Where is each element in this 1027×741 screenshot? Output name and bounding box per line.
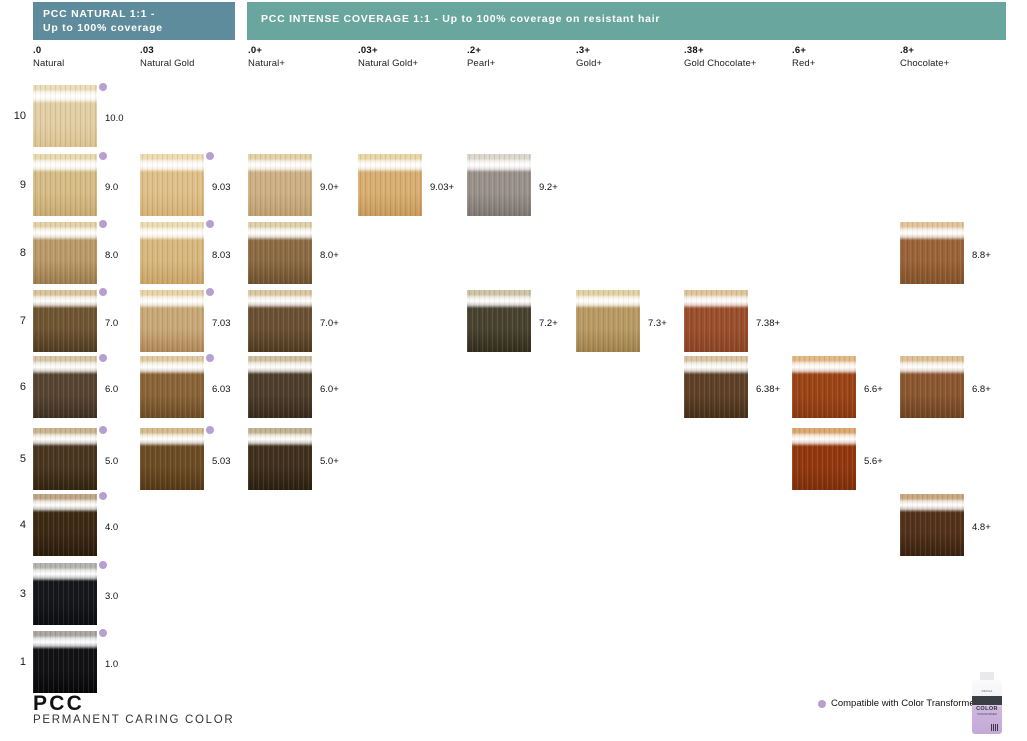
swatch-sheen [900,362,964,373]
bottle-body: INDOLA COLOR TRANSFORMER [972,680,1002,734]
column-name: Gold Chocolate+ [684,57,757,70]
swatch-sheen [33,296,97,307]
shade-swatch[interactable] [140,356,204,418]
shade-swatch[interactable] [684,356,748,418]
row-label-level-9: 9 [6,179,26,191]
banner-pcc-natural: PCC NATURAL 1:1 - Up to 100% coverage [33,2,235,40]
swatch-code-label: 5.0 [105,456,118,467]
shade-swatch[interactable] [140,154,204,216]
shade-swatch[interactable] [33,154,97,216]
swatch-sheen [248,362,312,373]
shade-swatch[interactable] [33,356,97,418]
column-name: Natural Gold [140,57,195,70]
bottle-barcode [991,724,999,731]
column-header-chocolate: .8+Chocolate+ [900,45,949,70]
swatch-code-label: 7.38+ [756,318,780,329]
column-name: Natural [33,57,64,70]
transformer-dot-icon [818,700,826,708]
swatch-sheen [140,160,204,171]
column-header-natural-gold: .03+Natural Gold+ [358,45,418,70]
column-header-gold: .3+Gold+ [576,45,602,70]
swatch-code-label: 5.0+ [320,456,339,467]
swatch-sheen [33,569,97,580]
transformer-dot-icon [99,288,107,296]
transformer-dot-icon [99,83,107,91]
swatch-sheen [140,296,204,307]
swatch-sheen [140,434,204,445]
transformer-dot-icon [206,220,214,228]
swatch-code-label: 6.0 [105,384,118,395]
swatch-code-label: 7.03 [212,318,231,329]
swatch-sheen [33,228,97,239]
shade-swatch[interactable] [33,222,97,284]
column-header-red: .6+Red+ [792,45,815,70]
column-code: .8+ [900,45,949,57]
swatch-code-label: 1.0 [105,659,118,670]
column-code: .0 [33,45,64,57]
swatch-sheen [684,296,748,307]
transformer-dot-icon [99,354,107,362]
swatch-sheen [900,500,964,511]
swatch-sheen [33,160,97,171]
swatch-code-label: 7.3+ [648,318,667,329]
column-code: .3+ [576,45,602,57]
swatch-code-label: 9.03 [212,182,231,193]
column-name: Pearl+ [467,57,495,70]
column-code: .03+ [358,45,418,57]
swatch-code-label: 8.8+ [972,250,991,261]
shade-swatch[interactable] [33,428,97,490]
swatch-code-label: 6.8+ [972,384,991,395]
row-label-level-7: 7 [6,315,26,327]
swatch-sheen [248,296,312,307]
swatch-sheen [248,228,312,239]
column-name: Natural Gold+ [358,57,418,70]
swatch-sheen [792,362,856,373]
transformer-dot-icon [206,354,214,362]
row-label-level-3: 3 [6,588,26,600]
row-label-level-5: 5 [6,453,26,465]
swatch-code-label: 6.38+ [756,384,780,395]
transformer-dot-icon [99,629,107,637]
bottle-subtitle: TRANSFORMER [972,713,1002,716]
shade-swatch[interactable] [467,154,531,216]
swatch-sheen [467,160,531,171]
shade-swatch[interactable] [140,222,204,284]
swatch-code-label: 6.6+ [864,384,883,395]
shade-swatch[interactable] [33,494,97,556]
bottle-title: COLOR [972,706,1002,712]
transformer-dot-icon [99,492,107,500]
column-name: Natural+ [248,57,285,70]
swatch-code-label: 7.2+ [539,318,558,329]
shade-swatch[interactable] [248,154,312,216]
transformer-dot-icon [206,152,214,160]
swatch-code-label: 9.0 [105,182,118,193]
column-code: .03 [140,45,195,57]
swatch-code-label: 7.0+ [320,318,339,329]
color-transformer-bottle-image: INDOLA COLOR TRANSFORMER [971,672,1003,734]
column-code: .2+ [467,45,495,57]
row-label-level-6: 6 [6,381,26,393]
swatch-sheen [900,228,964,239]
swatch-code-label: 8.0 [105,250,118,261]
row-label-level-8: 8 [6,247,26,259]
bottle-band [972,696,1002,705]
swatch-sheen [248,160,312,171]
swatch-sheen [33,500,97,511]
swatch-code-label: 8.03 [212,250,231,261]
transformer-dot-icon [206,288,214,296]
swatch-code-label: 9.0+ [320,182,339,193]
swatch-sheen [33,362,97,373]
column-header-natural: .0Natural [33,45,64,70]
column-header-natural-gold: .03Natural Gold [140,45,195,70]
column-name: Chocolate+ [900,57,949,70]
banner-pcc-intense-coverage: PCC INTENSE COVERAGE 1:1 - Up to 100% co… [247,2,1006,40]
swatch-code-label: 6.03 [212,384,231,395]
banner-natural-line2: Up to 100% coverage [43,21,226,35]
swatch-code-label: 4.8+ [972,522,991,533]
swatch-sheen [140,362,204,373]
transformer-dot-icon [99,220,107,228]
shade-swatch[interactable] [358,154,422,216]
shade-swatch[interactable] [900,222,964,284]
swatch-sheen [576,296,640,307]
swatch-code-label: 9.2+ [539,182,558,193]
shade-swatch[interactable] [684,290,748,352]
column-header-gold-chocolate: .38+Gold Chocolate+ [684,45,757,70]
column-name: Gold+ [576,57,602,70]
shade-swatch[interactable] [248,356,312,418]
column-header-pearl: .2+Pearl+ [467,45,495,70]
column-header-natural: .0+Natural+ [248,45,285,70]
transformer-dot-icon [206,426,214,434]
bottle-brand: INDOLA [972,690,1002,693]
swatch-code-label: 4.0 [105,522,118,533]
column-code: .0+ [248,45,285,57]
shade-swatch[interactable] [467,290,531,352]
shade-swatch[interactable] [900,494,964,556]
swatch-sheen [33,637,97,648]
logo-pcc: PCC [33,692,84,716]
shade-swatch[interactable] [140,290,204,352]
swatch-code-label: 10.0 [105,113,124,124]
shade-swatch[interactable] [140,428,204,490]
transformer-dot-icon [99,561,107,569]
banner-natural-line1: PCC NATURAL 1:1 - [43,7,226,21]
legend-color-transformer: Compatible with Color Transformer [818,698,978,709]
shade-swatch[interactable] [900,356,964,418]
shade-swatch[interactable] [248,428,312,490]
swatch-sheen [33,434,97,445]
swatch-sheen [792,434,856,445]
swatch-code-label: 8.0+ [320,250,339,261]
shade-swatch[interactable] [33,85,97,147]
swatch-sheen [467,296,531,307]
shade-swatch[interactable] [792,428,856,490]
shade-swatch[interactable] [33,631,97,693]
swatch-sheen [358,160,422,171]
swatch-code-label: 3.0 [105,591,118,602]
logo-tagline: PERMANENT CARING COLOR [33,714,234,726]
swatch-code-label: 9.03+ [430,182,454,193]
swatch-sheen [33,91,97,102]
swatch-sheen [140,228,204,239]
shade-swatch[interactable] [576,290,640,352]
column-code: .38+ [684,45,757,57]
row-label-level-1: 1 [6,656,26,668]
shade-swatch[interactable] [33,290,97,352]
column-code: .6+ [792,45,815,57]
column-name: Red+ [792,57,815,70]
shade-swatch[interactable] [248,290,312,352]
swatch-code-label: 6.0+ [320,384,339,395]
swatch-code-label: 5.03 [212,456,231,467]
shade-swatch[interactable] [248,222,312,284]
swatch-sheen [684,362,748,373]
transformer-dot-icon [99,426,107,434]
shade-swatch[interactable] [33,563,97,625]
swatch-sheen [248,434,312,445]
legend-label: Compatible with Color Transformer [831,698,978,709]
row-label-level-4: 4 [6,519,26,531]
row-label-level-10: 10 [6,110,26,122]
swatch-code-label: 7.0 [105,318,118,329]
swatch-code-label: 5.6+ [864,456,883,467]
transformer-dot-icon [99,152,107,160]
shade-swatch[interactable] [792,356,856,418]
